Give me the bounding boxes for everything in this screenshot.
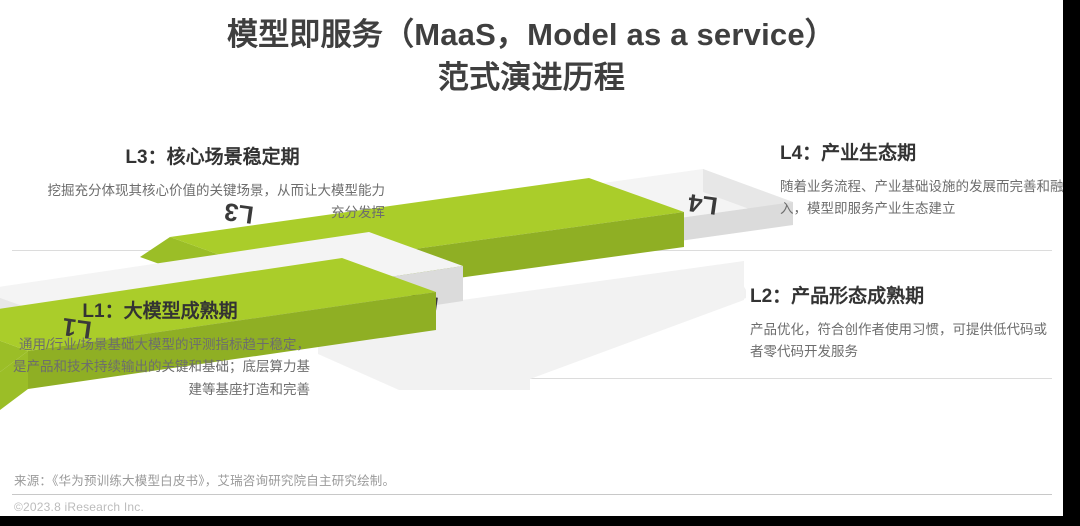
divider-footer xyxy=(12,494,1052,495)
callout-l4-description: 随着业务流程、产业基础设施的发展而完善和融入，模型即服务产业生态建立 xyxy=(780,176,1063,221)
callout-l4: L4：产业生态期 随着业务流程、产业基础设施的发展而完善和融入，模型即服务产业生… xyxy=(780,142,1063,221)
callout-l2-description: 产品优化，符合创作者使用习惯，可提供低代码或者零代码开发服务 xyxy=(750,319,1050,364)
page-title-line-1: 模型即服务（MaaS，Model as a service） xyxy=(0,14,1063,57)
slide-canvas: 模型即服务（MaaS，Model as a service） 范式演进历程 xyxy=(0,0,1063,516)
copyright-note: ©2023.8 iResearch Inc. xyxy=(14,500,144,514)
callout-l1-description: 通用/行业/场景基础大模型的评测指标趋于稳定，是产品和技术持续输出的关键和基础；… xyxy=(10,334,310,402)
callout-l1-heading: L1：大模型成熟期 xyxy=(10,300,310,325)
callout-l4-heading: L4：产业生态期 xyxy=(780,142,1063,167)
callout-l1: L1：大模型成熟期 通用/行业/场景基础大模型的评测指标趋于稳定，是产品和技术持… xyxy=(10,300,310,402)
page-title-line-2: 范式演进历程 xyxy=(0,57,1063,100)
callout-l3-heading: L3：核心场景稳定期 xyxy=(40,146,385,171)
slide-page: 模型即服务（MaaS，Model as a service） 范式演进历程 xyxy=(0,0,1080,526)
callout-l2-heading: L2：产品形态成熟期 xyxy=(750,285,1050,310)
slab-l4-label: L4 xyxy=(686,188,719,220)
page-title: 模型即服务（MaaS，Model as a service） 范式演进历程 xyxy=(0,14,1063,100)
callout-l3-description: 挖掘充分体现其核心价值的关键场景，从而让大模型能力充分发挥 xyxy=(40,180,385,225)
callout-l2: L2：产品形态成熟期 产品优化，符合创作者使用习惯，可提供低代码或者零代码开发服… xyxy=(750,285,1050,364)
callout-l3: L3：核心场景稳定期 挖掘充分体现其核心价值的关键场景，从而让大模型能力充分发挥 xyxy=(40,146,385,225)
source-note: 来源：《华为预训练大模型白皮书》，艾瑞咨询研究院自主研究绘制。 xyxy=(14,470,395,489)
